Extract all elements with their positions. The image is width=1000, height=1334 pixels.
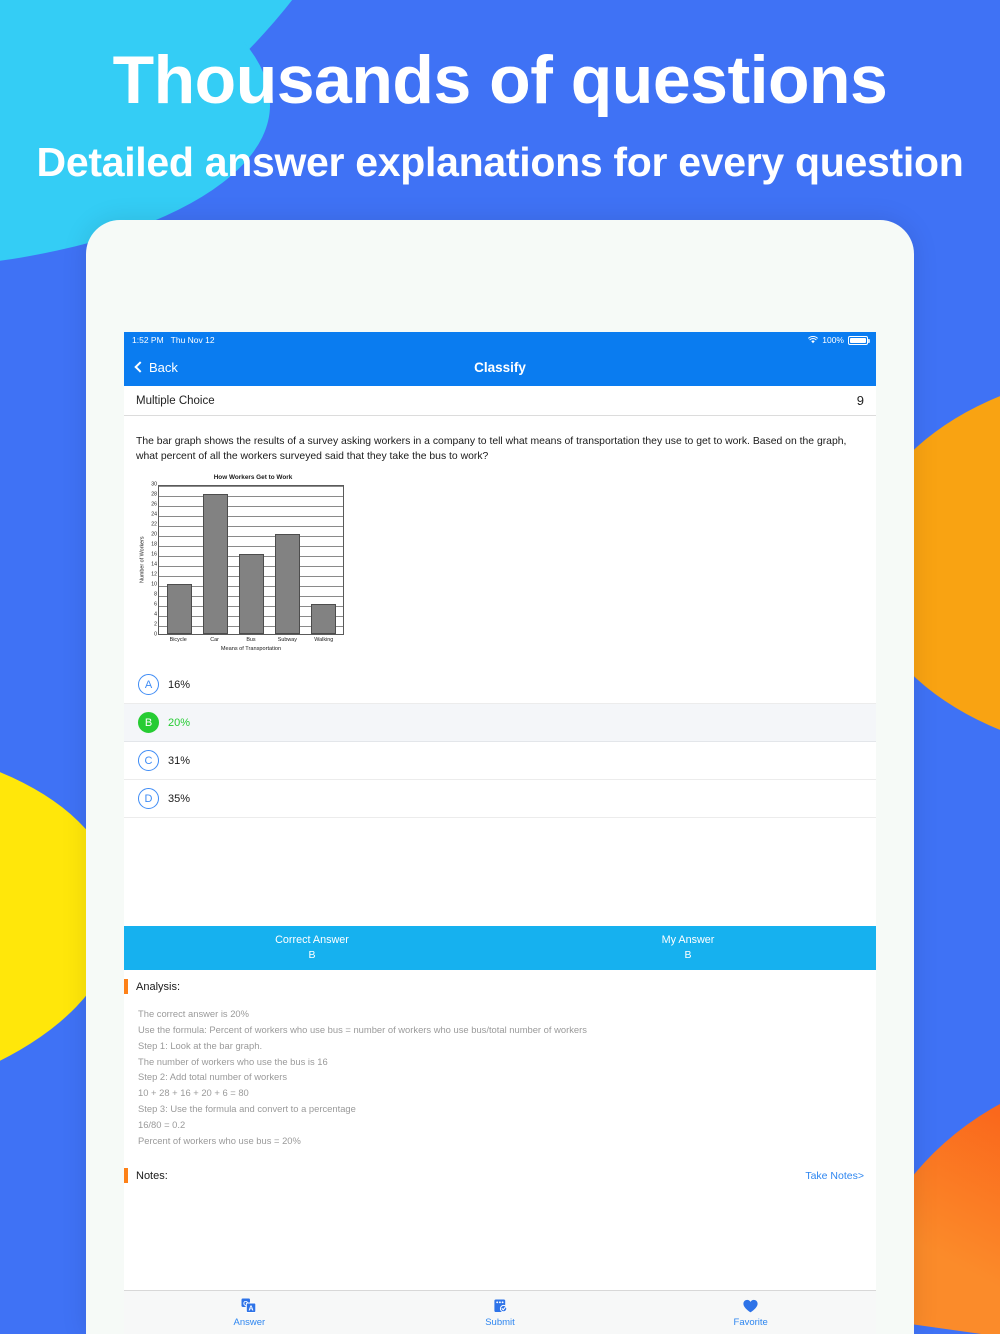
chart-y-tick: 22: [151, 523, 157, 528]
chart-y-tick: 10: [151, 583, 157, 588]
battery-percent-label: 100%: [822, 335, 844, 345]
chart-y-tick: 16: [151, 553, 157, 558]
submit-check-icon: [492, 1298, 509, 1315]
question-text: The bar graph shows the results of a sur…: [124, 416, 876, 464]
ios-status-bar: 1:52 PM Thu Nov 12 100%: [124, 332, 876, 348]
promo-subheadline: Detailed answer explanations for every q…: [0, 142, 1000, 183]
option-text: 35%: [168, 793, 190, 805]
option-letter-badge: C: [138, 750, 159, 771]
tab-favorite[interactable]: Favorite: [625, 1291, 876, 1334]
answer-option-a[interactable]: A16%: [124, 666, 876, 704]
chart-y-tick: 12: [151, 573, 157, 578]
answer-option-d[interactable]: D35%: [124, 780, 876, 818]
chart-x-tick: Bicycle: [165, 637, 192, 643]
answer-qa-icon: Q A: [241, 1298, 258, 1315]
my-answer-cell: My Answer B: [500, 933, 876, 964]
analysis-heading: Analysis:: [136, 981, 180, 993]
tab-answer[interactable]: Q A Answer: [124, 1291, 375, 1334]
chart-y-tick: 28: [151, 493, 157, 498]
tab-favorite-label: Favorite: [734, 1317, 768, 1328]
chart-x-tick: Subway: [274, 637, 301, 643]
correct-answer-value: B: [124, 948, 500, 963]
tab-submit-label: Submit: [485, 1317, 515, 1328]
notes-empty-area[interactable]: [124, 1193, 876, 1247]
chart-y-tick: 14: [151, 563, 157, 568]
answer-option-b[interactable]: B20%: [124, 704, 876, 742]
analysis-heading-row: Analysis:: [124, 970, 876, 1002]
question-type-label: Multiple Choice: [136, 395, 215, 407]
section-marker-icon: [124, 1168, 128, 1183]
content-spacer: [124, 818, 876, 926]
option-text: 16%: [168, 679, 190, 691]
chart-y-axis-label: Number of Workers: [138, 485, 147, 635]
section-marker-icon: [124, 979, 128, 994]
correct-answer-cell: Correct Answer B: [124, 933, 500, 964]
chart-bar-car: [203, 494, 228, 634]
chart-bar-bicycle: [167, 584, 192, 634]
take-notes-link[interactable]: Take Notes>: [805, 1170, 864, 1182]
option-letter-badge: B: [138, 712, 159, 733]
back-button-label: Back: [149, 360, 178, 375]
chart-y-ticks: 024681012141618202224262830: [147, 485, 158, 635]
chart-x-axis-label: Means of Transportation: [158, 646, 344, 652]
app-screen: 1:52 PM Thu Nov 12 100% Back Classify Mu…: [124, 332, 876, 1334]
chart-y-tick: 4: [154, 613, 157, 618]
option-text: 20%: [168, 717, 190, 729]
svg-text:A: A: [248, 1305, 253, 1312]
tab-submit[interactable]: Submit: [375, 1291, 626, 1334]
chart-x-tick: Bus: [237, 637, 264, 643]
chart-y-tick: 26: [151, 503, 157, 508]
chart-plot-area: [158, 485, 344, 635]
my-answer-label: My Answer: [500, 933, 876, 949]
chart-x-tick: Walking: [310, 637, 337, 643]
chart-bar-subway: [275, 534, 300, 634]
chart-y-tick: 18: [151, 543, 157, 548]
tablet-bezel: [86, 220, 914, 331]
bar-chart-figure: How Workers Get to Work Number of Worker…: [124, 464, 876, 652]
heart-icon: [742, 1298, 759, 1315]
correct-answer-label: Correct Answer: [124, 933, 500, 949]
chart-y-tick: 6: [154, 603, 157, 608]
chart-y-tick: 0: [154, 633, 157, 638]
wifi-icon: [808, 336, 818, 344]
status-time: 1:52 PM: [132, 335, 164, 345]
chart-y-tick: 24: [151, 513, 157, 518]
chart-y-tick: 20: [151, 533, 157, 538]
bottom-tab-bar: Q A Answer Submit: [124, 1290, 876, 1334]
answer-options-list: A16%B20%C31%D35%: [124, 666, 876, 818]
notes-heading-row: Notes: Take Notes>: [124, 1158, 876, 1193]
chart-bar-bus: [239, 554, 264, 634]
page-title: Classify: [124, 360, 876, 375]
battery-full-icon: [848, 336, 868, 345]
question-number: 9: [857, 393, 864, 408]
chevron-left-icon: [134, 361, 145, 372]
chart-y-tick: 2: [154, 623, 157, 628]
promo-headline-group: Thousands of questions Detailed answer e…: [0, 0, 1000, 183]
chart-bar-walking: [311, 604, 336, 634]
chart-title: How Workers Get to Work: [156, 474, 350, 481]
status-date: Thu Nov 12: [171, 335, 215, 345]
answer-summary-bar: Correct Answer B My Answer B: [124, 926, 876, 970]
tab-answer-label: Answer: [233, 1317, 265, 1328]
back-button[interactable]: Back: [136, 360, 178, 375]
chart-y-tick: 30: [151, 483, 157, 488]
chart-x-tick: Car: [201, 637, 228, 643]
analysis-body-text: The correct answer is 20% Use the formul…: [124, 1002, 876, 1158]
navigation-bar: Back Classify: [124, 348, 876, 386]
option-text: 31%: [168, 755, 190, 767]
option-letter-badge: A: [138, 674, 159, 695]
chart-y-tick: 8: [154, 593, 157, 598]
question-meta-bar: Multiple Choice 9: [124, 386, 876, 416]
promo-headline: Thousands of questions: [0, 46, 1000, 114]
chart-x-tick-labels: BicycleCarBusSubwayWalking: [158, 635, 344, 643]
answer-option-c[interactable]: C31%: [124, 742, 876, 780]
my-answer-value: B: [500, 948, 876, 963]
option-letter-badge: D: [138, 788, 159, 809]
chart-bars: [159, 486, 343, 634]
notes-heading: Notes:: [136, 1170, 168, 1182]
